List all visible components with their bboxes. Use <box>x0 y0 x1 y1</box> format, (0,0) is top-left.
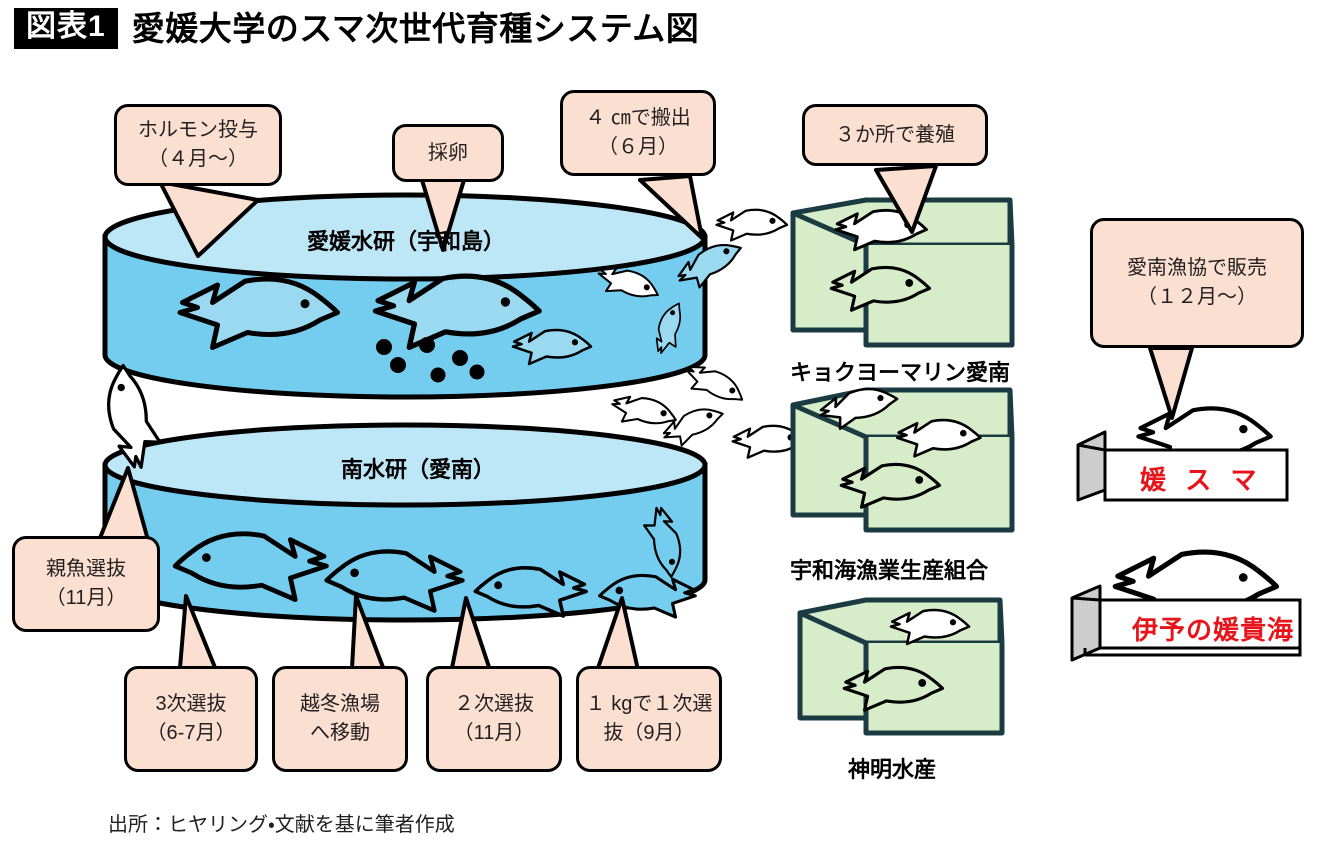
callout-third-select-line1: 3次選抜 <box>155 690 226 719</box>
callout-hormone[interactable]: ホルモン投与 （４月〜） <box>114 104 282 186</box>
diagram-canvas: 図表1 愛媛大学のスマ次世代育種システム図 <box>0 0 1340 847</box>
callout-hormone-line1: ホルモン投与 <box>138 116 258 145</box>
callout-sale-ainan-line1: 愛南漁協で販売 <box>1127 254 1267 283</box>
callout-third-select-line2: （6-7月） <box>147 719 236 748</box>
callout-shipout-4cm[interactable]: ４ ㎝で搬出 （６月） <box>560 90 716 176</box>
source-note: 出所：ヒヤリング・文献を基に筆者作成 <box>108 808 455 837</box>
pen-shinmei-suisan <box>800 600 1002 733</box>
callout-egg-collection[interactable]: 採卵 <box>392 124 504 182</box>
pen-uwakai-gyogyo <box>793 383 1012 530</box>
tank-label-minami-suiken: 南水研（愛南） <box>341 452 495 484</box>
callout-broodstock[interactable]: 親魚選抜 （11月） <box>12 536 160 632</box>
product-label-iyo-himetakami: 伊予の媛貴海 <box>1132 610 1294 647</box>
callout-broodstock-line1: 親魚選抜 <box>46 555 126 584</box>
callout-three-sites-line1: ３か所で養殖 <box>835 121 955 150</box>
callout-shipout-4cm-line1: ４ ㎝で搬出 <box>585 104 691 133</box>
callout-first-select-line2: 抜（9月） <box>603 719 694 748</box>
tank-label-eihime-suiken: 愛媛水研（宇和島） <box>307 224 505 256</box>
callout-broodstock-line2: （11月） <box>46 584 127 613</box>
callout-second-select-line1: ２次選抜 <box>454 690 534 719</box>
callout-first-select-line1: １ kgで１次選 <box>586 690 713 719</box>
callout-third-select[interactable]: 3次選抜 （6-7月） <box>124 666 258 772</box>
callout-hormone-line2: （４月〜） <box>148 145 248 174</box>
pen-label-uwakai-gyogyo: 宇和海漁業生産組合 <box>790 553 988 585</box>
callout-winter-move-line1: 越冬漁場 <box>300 690 380 719</box>
callout-second-select-line2: （11月） <box>454 719 535 748</box>
callout-shipout-4cm-line2: （６月） <box>598 133 678 162</box>
callout-sale-ainan[interactable]: 愛南漁協で販売 （１２月〜） <box>1090 218 1304 348</box>
callout-winter-move[interactable]: 越冬漁場 へ移動 <box>272 666 408 772</box>
callout-first-select[interactable]: １ kgで１次選 抜（9月） <box>576 666 722 772</box>
pen-label-shinmei-suisan: 神明水産 <box>848 752 936 784</box>
pen-label-kyokuyo-marine-ainan: キョクヨーマリン愛南 <box>790 355 1010 387</box>
product-label-hime-suma: 媛 ス マ <box>1140 460 1262 497</box>
callout-sale-ainan-line2: （１２月〜） <box>1137 283 1257 312</box>
callout-winter-move-line2: へ移動 <box>310 719 370 748</box>
pen-kyokuyo-marine-ainan <box>793 200 1012 345</box>
callout-three-sites[interactable]: ３か所で養殖 <box>802 104 988 166</box>
callout-egg-collection-line1: 採卵 <box>428 139 468 168</box>
callout-second-select[interactable]: ２次選抜 （11月） <box>426 666 562 772</box>
